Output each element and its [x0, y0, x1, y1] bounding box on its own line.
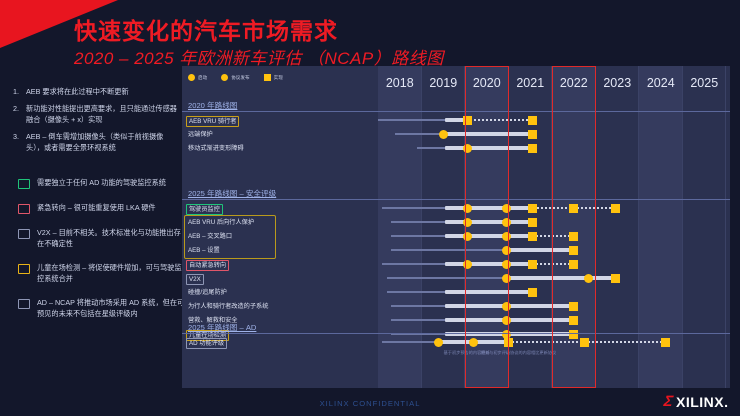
chart-legend: 启动协议发布实现 — [188, 74, 297, 81]
section-divider — [182, 199, 730, 200]
year-column-2018 — [378, 66, 422, 388]
leader-line — [417, 147, 445, 148]
year-header-2022: 2022 — [552, 66, 596, 100]
leader-line — [378, 119, 445, 120]
leader-line — [391, 221, 445, 222]
checkbox-grey-icon — [18, 229, 30, 239]
xilinx-wordmark: XILINX — [676, 394, 724, 410]
numbered-note: 3.AEB – 倒车需增加摄像头（类似于前视摄像头），或者需要全景环视系统 — [26, 131, 178, 153]
leader-line — [391, 249, 506, 250]
milestone-square-icon[interactable] — [528, 204, 537, 213]
section-header: 2020 年路线图 — [188, 100, 237, 111]
milestone-square-icon[interactable] — [528, 130, 537, 139]
milestone-square-icon[interactable] — [528, 116, 537, 125]
legend-label: 实现 — [274, 75, 283, 81]
milestone-square-icon[interactable] — [611, 274, 620, 283]
xilinx-dot: . — [724, 394, 728, 410]
milestone-square-icon[interactable] — [569, 316, 578, 325]
legend-note-text: 儿童在场检测 – 将促使硬件增加，可与驾驶监控系统合并 — [37, 263, 186, 284]
timeline-bar — [445, 146, 532, 149]
milestone-square-icon[interactable] — [504, 338, 513, 347]
milestone-circle-icon[interactable] — [502, 232, 511, 241]
milestone-circle-icon[interactable] — [439, 130, 448, 139]
leader-line — [382, 341, 439, 342]
timeline-row-label[interactable]: 碰撞/追尾防护 — [186, 288, 229, 297]
leader-line — [391, 305, 445, 306]
milestone-circle-icon[interactable] — [463, 232, 472, 241]
checkbox-yellow-icon — [18, 264, 30, 274]
year-column-2025 — [683, 66, 727, 388]
milestone-circle-icon[interactable] — [469, 338, 478, 347]
milestone-circle-icon[interactable] — [502, 274, 511, 283]
checkbox-grey-icon — [18, 299, 30, 309]
timeline-bar — [445, 220, 532, 223]
checkbox-red-icon — [18, 204, 30, 214]
timeline-row-label[interactable]: 为行人和骑行者改造的子系统 — [186, 302, 270, 311]
milestone-square-icon[interactable] — [569, 260, 578, 269]
timeline-bar — [445, 290, 532, 293]
section-divider — [182, 333, 730, 334]
legend-note-row: 紧急转向 – 很可能重复使用 LKA 硬件 — [8, 203, 186, 214]
year-header-2025: 2025 — [683, 66, 727, 100]
milestone-circle-icon[interactable] — [463, 204, 472, 213]
timeline-bar-dotted — [467, 119, 532, 121]
note-number: 1. — [13, 86, 19, 97]
milestone-circle-icon[interactable] — [502, 246, 511, 255]
milestone-square-icon[interactable] — [528, 260, 537, 269]
xilinx-logo: Σ XILINX . — [664, 393, 728, 410]
leader-line — [387, 277, 507, 278]
legend-item-square: 实现 — [264, 74, 283, 81]
numbered-note: 2.新功能对性能提出更高要求，且只能通过传感器融合（摄像头 + x）实现 — [26, 103, 178, 125]
milestone-square-icon[interactable] — [569, 302, 578, 311]
milestone-square-icon[interactable] — [569, 232, 578, 241]
timeline-row-label[interactable]: AD 功能评级 — [186, 338, 227, 349]
year-header-2019: 2019 — [422, 66, 466, 100]
legend-item-circle: 协议发布 — [221, 74, 249, 81]
note-text: AEB 要求将在此过程中不断更新 — [26, 87, 129, 96]
leader-line — [387, 291, 446, 292]
circle-marker-icon — [221, 74, 228, 81]
year-column-2021 — [509, 66, 553, 388]
note-text: AEB – 倒车需增加摄像头（类似于前视摄像头），或者需要全景环视系统 — [26, 132, 163, 152]
note-text: 新功能对性能提出更高要求，且只能通过传感器融合（摄像头 + x）实现 — [26, 104, 177, 124]
milestone-square-icon[interactable] — [661, 338, 670, 347]
aeb-group-box — [184, 215, 276, 259]
circle-marker-icon — [188, 74, 195, 81]
leader-line — [391, 235, 445, 236]
timeline-row-label[interactable]: 移动式渐进变形障碍 — [186, 144, 246, 153]
milestone-square-icon[interactable] — [528, 218, 537, 227]
milestone-square-icon[interactable] — [528, 288, 537, 297]
section-header: 2025 年路线图 – 安全评级 — [188, 188, 276, 199]
milestone-circle-icon[interactable] — [502, 204, 511, 213]
square-marker-icon — [264, 74, 271, 81]
year-header-2021: 2021 — [509, 66, 553, 100]
legend-item-circle: 启动 — [188, 74, 207, 81]
xilinx-mark-icon: Σ — [663, 393, 674, 410]
timeline-row-label[interactable]: 驾驶员监控 — [186, 204, 223, 215]
legend-note-text: 需要独立于任何 AD 功能的驾驶监控系统 — [37, 178, 166, 189]
year-header-2020: 2020 — [465, 66, 509, 100]
footer-confidential: XILINX CONFIDENTIAL — [0, 399, 740, 408]
legend-note-row: 需要独立于任何 AD 功能的驾驶监控系统 — [8, 178, 186, 189]
page-title: 快速变化的汽车市场需求 — [74, 12, 338, 46]
legend-note-text: 紧急转向 – 很可能重复使用 LKA 硬件 — [37, 203, 156, 214]
timeline-bar — [445, 262, 532, 265]
milestone-square-icon[interactable] — [569, 204, 578, 213]
note-number: 2. — [13, 103, 19, 114]
timeline-row-label[interactable]: 自动紧急转向 — [186, 260, 229, 271]
timeline-bar-dotted — [532, 263, 573, 265]
timeline-bar — [506, 276, 615, 279]
section-divider — [182, 111, 730, 112]
milestone-circle-icon[interactable] — [502, 218, 511, 227]
milestone-circle-icon[interactable] — [463, 218, 472, 227]
milestone-circle-icon[interactable] — [463, 260, 472, 269]
milestone-square-icon[interactable] — [569, 246, 578, 255]
milestone-square-icon[interactable] — [528, 232, 537, 241]
checkbox-notes-list: 需要独立于任何 AD 功能的驾驶监控系统紧急转向 – 很可能重复使用 LKA 硬… — [8, 178, 186, 333]
timeline-row-label[interactable]: AEB VRU 骑行者 — [186, 116, 239, 127]
milestone-circle-icon[interactable] — [502, 316, 511, 325]
milestone-square-icon[interactable] — [611, 204, 620, 213]
numbered-notes-list: 1.AEB 要求将在此过程中不断更新2.新功能对性能提出更高要求，且只能通过传感… — [8, 86, 178, 153]
checkbox-green-icon — [18, 179, 30, 189]
legend-note-row: V2X – 目前不相关。技术标准化与功能推出存在不确定性 — [8, 228, 186, 249]
timeline-bar — [506, 248, 573, 251]
numbered-note: 1.AEB 要求将在此过程中不断更新 — [26, 86, 178, 97]
milestone-circle-icon[interactable] — [502, 260, 511, 269]
timeline-bar — [443, 132, 532, 135]
legend-note-row: 儿童在场检测 – 将促使硬件增加，可与驾驶监控系统合并 — [8, 263, 186, 284]
timeline-bar — [445, 234, 532, 237]
milestone-circle-icon[interactable] — [434, 338, 443, 347]
legend-note-text: V2X – 目前不相关。技术标准化与功能推出存在不确定性 — [37, 228, 186, 249]
leader-line — [395, 133, 443, 134]
section-header: 2025 年路线图 – AD — [188, 322, 256, 333]
year-header-2024: 2024 — [639, 66, 683, 100]
notes-panel: 1.AEB 要求将在此过程中不断更新2.新功能对性能提出更高要求，且只能通过传感… — [8, 86, 178, 159]
leader-line — [391, 319, 445, 320]
milestone-circle-icon[interactable] — [584, 274, 593, 283]
legend-label: 协议发布 — [231, 75, 249, 81]
timeline-row-label[interactable]: V2X — [186, 274, 204, 285]
milestone-square-icon[interactable] — [528, 144, 537, 153]
timeline-annotation-ad: 基于初步预告的内容更新 — [437, 350, 497, 356]
timeline-bar-dotted — [532, 235, 573, 237]
milestone-square-icon[interactable] — [569, 330, 578, 339]
timeline-row-label[interactable]: 远端保护 — [186, 130, 215, 139]
year-column-2023 — [596, 66, 640, 388]
year-header-2018: 2018 — [378, 66, 422, 100]
milestone-circle-icon[interactable] — [502, 302, 511, 311]
legend-note-text: AD – NCAP 将推动市场采用 AD 系统，但在可预见的未来不包括在星级评级… — [37, 298, 186, 319]
legend-note-row: AD – NCAP 将推动市场采用 AD 系统，但在可预见的未来不包括在星级评级… — [8, 298, 186, 319]
leader-line — [382, 207, 445, 208]
milestone-square-icon[interactable] — [580, 338, 589, 347]
leader-line — [382, 263, 445, 264]
timeline-bar — [445, 206, 532, 209]
milestone-circle-icon[interactable] — [463, 144, 472, 153]
note-number: 3. — [13, 131, 19, 142]
ncap-roadmap-timeline[interactable]: 20182019202020212022202320242025 启动协议发布实… — [182, 66, 730, 388]
milestone-square-icon[interactable] — [463, 116, 472, 125]
legend-label: 启动 — [198, 75, 207, 81]
year-header-2023: 2023 — [596, 66, 640, 100]
